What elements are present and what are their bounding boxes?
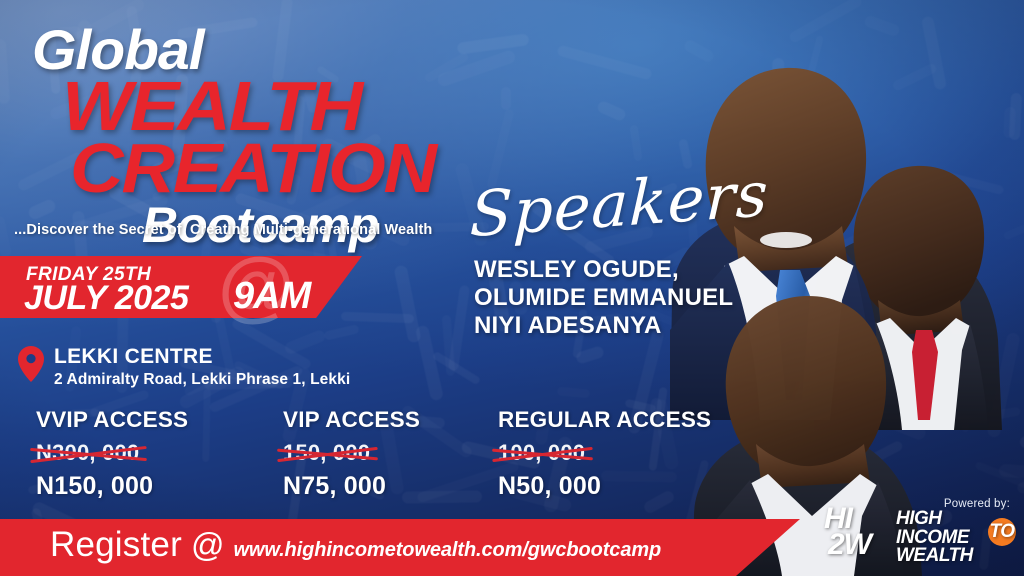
decorative-dash (948, 313, 965, 366)
decorative-dash (777, 91, 793, 189)
tier-old-price: N300, 000 (36, 440, 139, 466)
tier-old-price: 100, 000 (498, 440, 585, 466)
register-label: Register (50, 525, 182, 565)
venue-name: LEKKI CENTRE (54, 345, 350, 368)
speaker-names-list: WESLEY OGUDE, OLUMIDE EMMANUEL NIYI ADES… (474, 256, 733, 339)
speaker-name: NIYI ADESANYA (474, 312, 733, 340)
tier-new-price: N75, 000 (283, 472, 498, 501)
decorative-dash (0, 215, 12, 257)
decorative-dash (442, 314, 456, 375)
decorative-dash (1009, 92, 1022, 139)
decorative-dash (682, 38, 716, 64)
headline-wealth: WEALTH (62, 76, 528, 136)
brand-line-wealth: WEALTH (896, 547, 1014, 566)
decorative-dash (324, 324, 360, 340)
brand-to-badge: TO (988, 518, 1016, 546)
date-time: 9AM (233, 277, 310, 315)
flyer-canvas: Global WEALTH CREATION Bootcamp ...Disco… (0, 0, 1024, 576)
venue-address: 2 Admiralty Road, Lekki Phrase 1, Lekki (54, 371, 350, 389)
speaker-name: WESLEY OGUDE, (474, 256, 733, 284)
decorative-dash (1016, 473, 1024, 494)
decorative-dash (922, 165, 1004, 194)
decorative-dash (448, 285, 470, 372)
tier-old-price: 150, 000 (283, 440, 370, 466)
headline-block: Global WEALTH CREATION Bootcamp (32, 24, 502, 249)
pricing-tier-vvip: VVIP ACCESS N300, 000 N150, 000 (36, 408, 283, 501)
pricing-tier-regular: REGULAR ACCESS 100, 000 N50, 000 (498, 408, 768, 501)
decorative-dash (829, 390, 928, 442)
decorative-dash (891, 62, 938, 92)
decorative-dash (1003, 222, 1024, 242)
decorative-dash (787, 0, 863, 44)
decorative-dash (415, 325, 444, 402)
decorative-dash (432, 350, 481, 384)
tier-new-price: N50, 000 (498, 472, 768, 501)
decorative-dash (943, 185, 977, 211)
decorative-dash (865, 329, 883, 372)
tier-title: VIP ACCESS (283, 408, 498, 433)
high-income-to-wealth-logo: HIGH INCOME WEALTH TO (896, 510, 1014, 566)
decorative-dash (781, 160, 846, 191)
decorative-dash (921, 16, 947, 91)
decorative-dash (825, 225, 880, 257)
decorative-dash (767, 58, 784, 165)
tier-title: VVIP ACCESS (36, 408, 283, 433)
decorative-dash (575, 346, 605, 366)
decorative-dash (986, 332, 1020, 439)
pricing-tier-vip: VIP ACCESS 150, 000 N75, 000 (283, 408, 498, 501)
decorative-dash (805, 35, 824, 84)
headline-creation: CREATION (70, 138, 528, 198)
decorative-dash (933, 168, 953, 215)
decorative-dash (932, 407, 1021, 431)
decorative-dash (812, 569, 833, 576)
tier-title: REGULAR ACCESS (498, 408, 768, 433)
venue-block: LEKKI CENTRE 2 Admiralty Road, Lekki Phr… (18, 344, 350, 389)
decorative-dash (596, 100, 628, 123)
decorative-dash (901, 323, 977, 339)
decorative-dash (830, 440, 904, 484)
pricing-row: VVIP ACCESS N300, 000 N150, 000 VIP ACCE… (36, 408, 768, 501)
decorative-dash (944, 333, 970, 433)
date-month-year: JULY 2025 (24, 281, 188, 315)
hi2w-bottom: 2W (828, 530, 871, 560)
speaker-photo-1 (670, 68, 880, 420)
decorative-dash (895, 264, 937, 296)
hi2w-monogram-logo: HI 2W (824, 502, 896, 568)
decorative-dash (811, 288, 837, 344)
decorative-dash (999, 464, 1024, 482)
location-pin-icon (18, 346, 44, 382)
decorative-dash (904, 237, 925, 293)
register-cta[interactable]: Register @ www.highincometowealth.com/gw… (50, 525, 661, 565)
decorative-dash (629, 124, 642, 160)
decorative-dash (1003, 107, 1016, 138)
register-url[interactable]: www.highincometowealth.com/gwcbootcamp (233, 539, 661, 562)
decorative-dash (557, 44, 654, 80)
decorative-dash (0, 38, 11, 103)
speaker-photo-2 (814, 166, 1002, 430)
decorative-dash (1018, 406, 1024, 449)
decorative-dash (557, 386, 591, 398)
powered-by-label: Powered by: (944, 498, 1010, 510)
headline-tagline: ...Discover the Secret of Creating Multi… (14, 222, 474, 238)
speaker-name: OLUMIDE EMMANUEL (474, 284, 733, 312)
decorative-dash (341, 312, 415, 323)
register-at-icon: @ (191, 526, 225, 564)
decorative-dash (863, 15, 901, 39)
decorative-dash (945, 194, 962, 247)
decorative-dash (741, 291, 753, 331)
decorative-dash (393, 265, 421, 344)
tier-new-price: N150, 000 (36, 472, 283, 501)
